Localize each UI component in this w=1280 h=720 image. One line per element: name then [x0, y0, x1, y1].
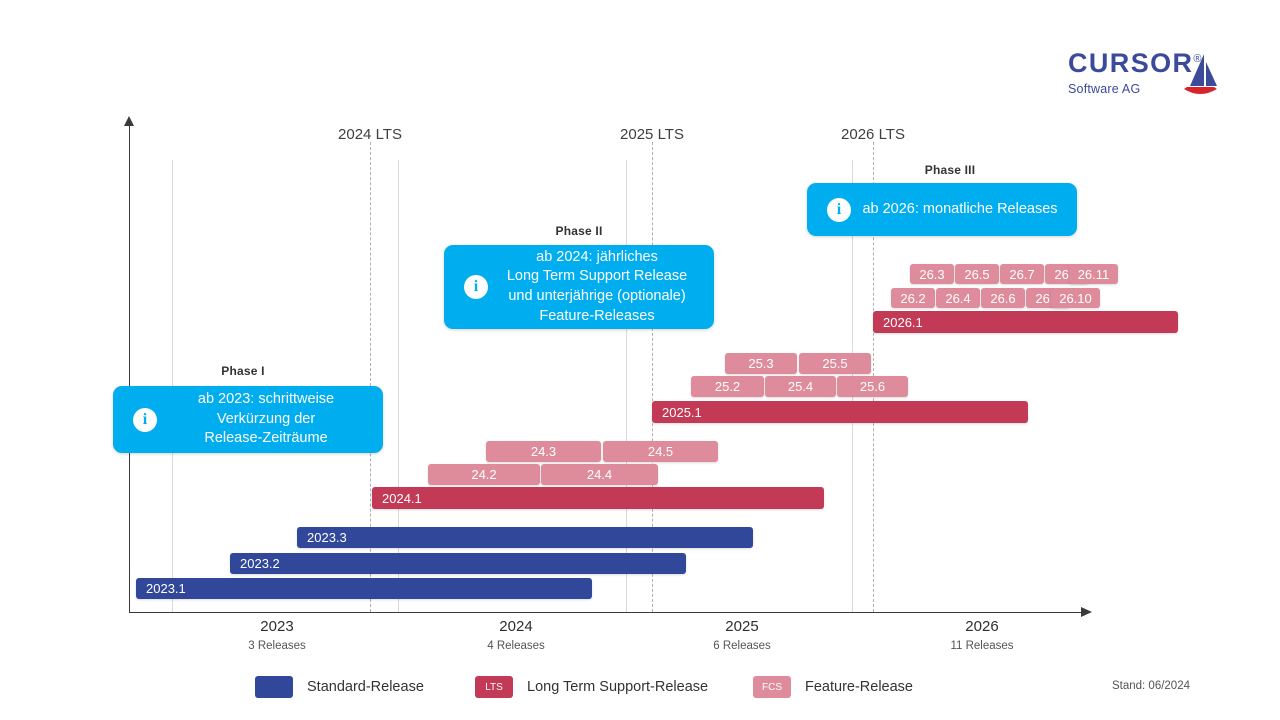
release-bar-26-5[interactable]: 26.5: [955, 264, 999, 284]
cursor-logo: CURSOR® Software AG: [1068, 50, 1200, 96]
release-bar-26-3[interactable]: 26.3: [910, 264, 954, 284]
info-icon: i: [133, 408, 157, 432]
category-release-count: 11 Releases: [950, 640, 1013, 652]
release-bar-24-2[interactable]: 24.2: [428, 464, 540, 485]
release-bar-26-11[interactable]: 26.11: [1069, 264, 1118, 284]
release-bar-24-4[interactable]: 24.4: [541, 464, 658, 485]
roadmap-slide: CURSOR® Software AG 2024 LTS2025 LTS2026…: [0, 0, 1280, 720]
sailboat-icon: [1180, 52, 1220, 98]
release-bar-24-3[interactable]: 24.3: [486, 441, 601, 462]
category-release-count: 6 Releases: [713, 640, 771, 652]
stand-date: Stand: 06/2024: [1112, 680, 1190, 692]
release-bar-25-2[interactable]: 25.2: [691, 376, 764, 397]
category-year: 2024: [487, 618, 545, 635]
phase-title: Phase III: [925, 163, 976, 177]
phase-title: Phase I: [221, 364, 264, 378]
category-release-count: 3 Releases: [248, 640, 306, 652]
phase-callout-text: ab 2024: jährliches Long Term Support Re…: [488, 248, 714, 327]
y-axis-line: [129, 125, 130, 613]
phase-callout[interactable]: iab 2026: monatliche Releases: [807, 183, 1077, 236]
x-axis-category-2026: 202611 Releases: [950, 618, 1013, 652]
release-bar-2023-2[interactable]: 2023.2: [230, 553, 686, 574]
legend-swatch: [255, 676, 293, 698]
release-bar-2023-3[interactable]: 2023.3: [297, 527, 753, 548]
phase-callout-text: ab 2023: schrittweise Verkürzung der Rel…: [157, 390, 383, 449]
lts-label: 2024 LTS: [338, 126, 402, 143]
legend-label: Feature-Release: [805, 679, 913, 695]
release-bar-26-10[interactable]: 26.10: [1051, 288, 1100, 308]
phase-title: Phase II: [556, 224, 603, 238]
release-bar-26-6[interactable]: 26.6: [981, 288, 1025, 308]
legend-label: Long Term Support-Release: [527, 679, 708, 695]
category-release-count: 4 Releases: [487, 640, 545, 652]
legend-item[interactable]: LTSLong Term Support-Release: [475, 676, 708, 698]
release-bar-25-3[interactable]: 25.3: [725, 353, 797, 374]
release-bar-2024-1[interactable]: 2024.1: [372, 487, 824, 509]
x-axis-line: [129, 612, 1081, 613]
legend-item[interactable]: Standard-Release: [255, 676, 424, 698]
phase-callout[interactable]: iab 2024: jährliches Long Term Support R…: [444, 245, 714, 329]
release-bar-26-4[interactable]: 26.4: [936, 288, 980, 308]
release-bar-25-6[interactable]: 25.6: [837, 376, 908, 397]
legend-swatch: FCS: [753, 676, 791, 698]
x-axis-category-2023: 20233 Releases: [248, 618, 306, 652]
category-year: 2026: [950, 618, 1013, 635]
info-icon: i: [464, 275, 488, 299]
release-bar-26-2[interactable]: 26.2: [891, 288, 935, 308]
info-icon: i: [827, 198, 851, 222]
x-axis-category-2025: 20256 Releases: [713, 618, 771, 652]
logo-word-text: CURSOR: [1068, 48, 1193, 78]
release-bar-2026-1[interactable]: 2026.1: [873, 311, 1178, 333]
category-year: 2025: [713, 618, 771, 635]
lts-label: 2026 LTS: [841, 126, 905, 143]
x-axis-arrow: [1081, 607, 1092, 617]
x-axis-category-2024: 20244 Releases: [487, 618, 545, 652]
legend-item[interactable]: FCSFeature-Release: [753, 676, 913, 698]
release-bar-24-5[interactable]: 24.5: [603, 441, 718, 462]
category-year: 2023: [248, 618, 306, 635]
lts-label: 2025 LTS: [620, 126, 684, 143]
release-bar-2023-1[interactable]: 2023.1: [136, 578, 592, 599]
phase-callout-text: ab 2026: monatliche Releases: [851, 200, 1077, 220]
y-axis-arrow: [124, 116, 134, 126]
release-bar-26-7[interactable]: 26.7: [1000, 264, 1044, 284]
legend-swatch: LTS: [475, 676, 513, 698]
release-bar-25-4[interactable]: 25.4: [765, 376, 836, 397]
phase-callout[interactable]: iab 2023: schrittweise Verkürzung der Re…: [113, 386, 383, 453]
release-bar-2025-1[interactable]: 2025.1: [652, 401, 1028, 423]
legend-label: Standard-Release: [307, 679, 424, 695]
release-bar-25-5[interactable]: 25.5: [799, 353, 871, 374]
